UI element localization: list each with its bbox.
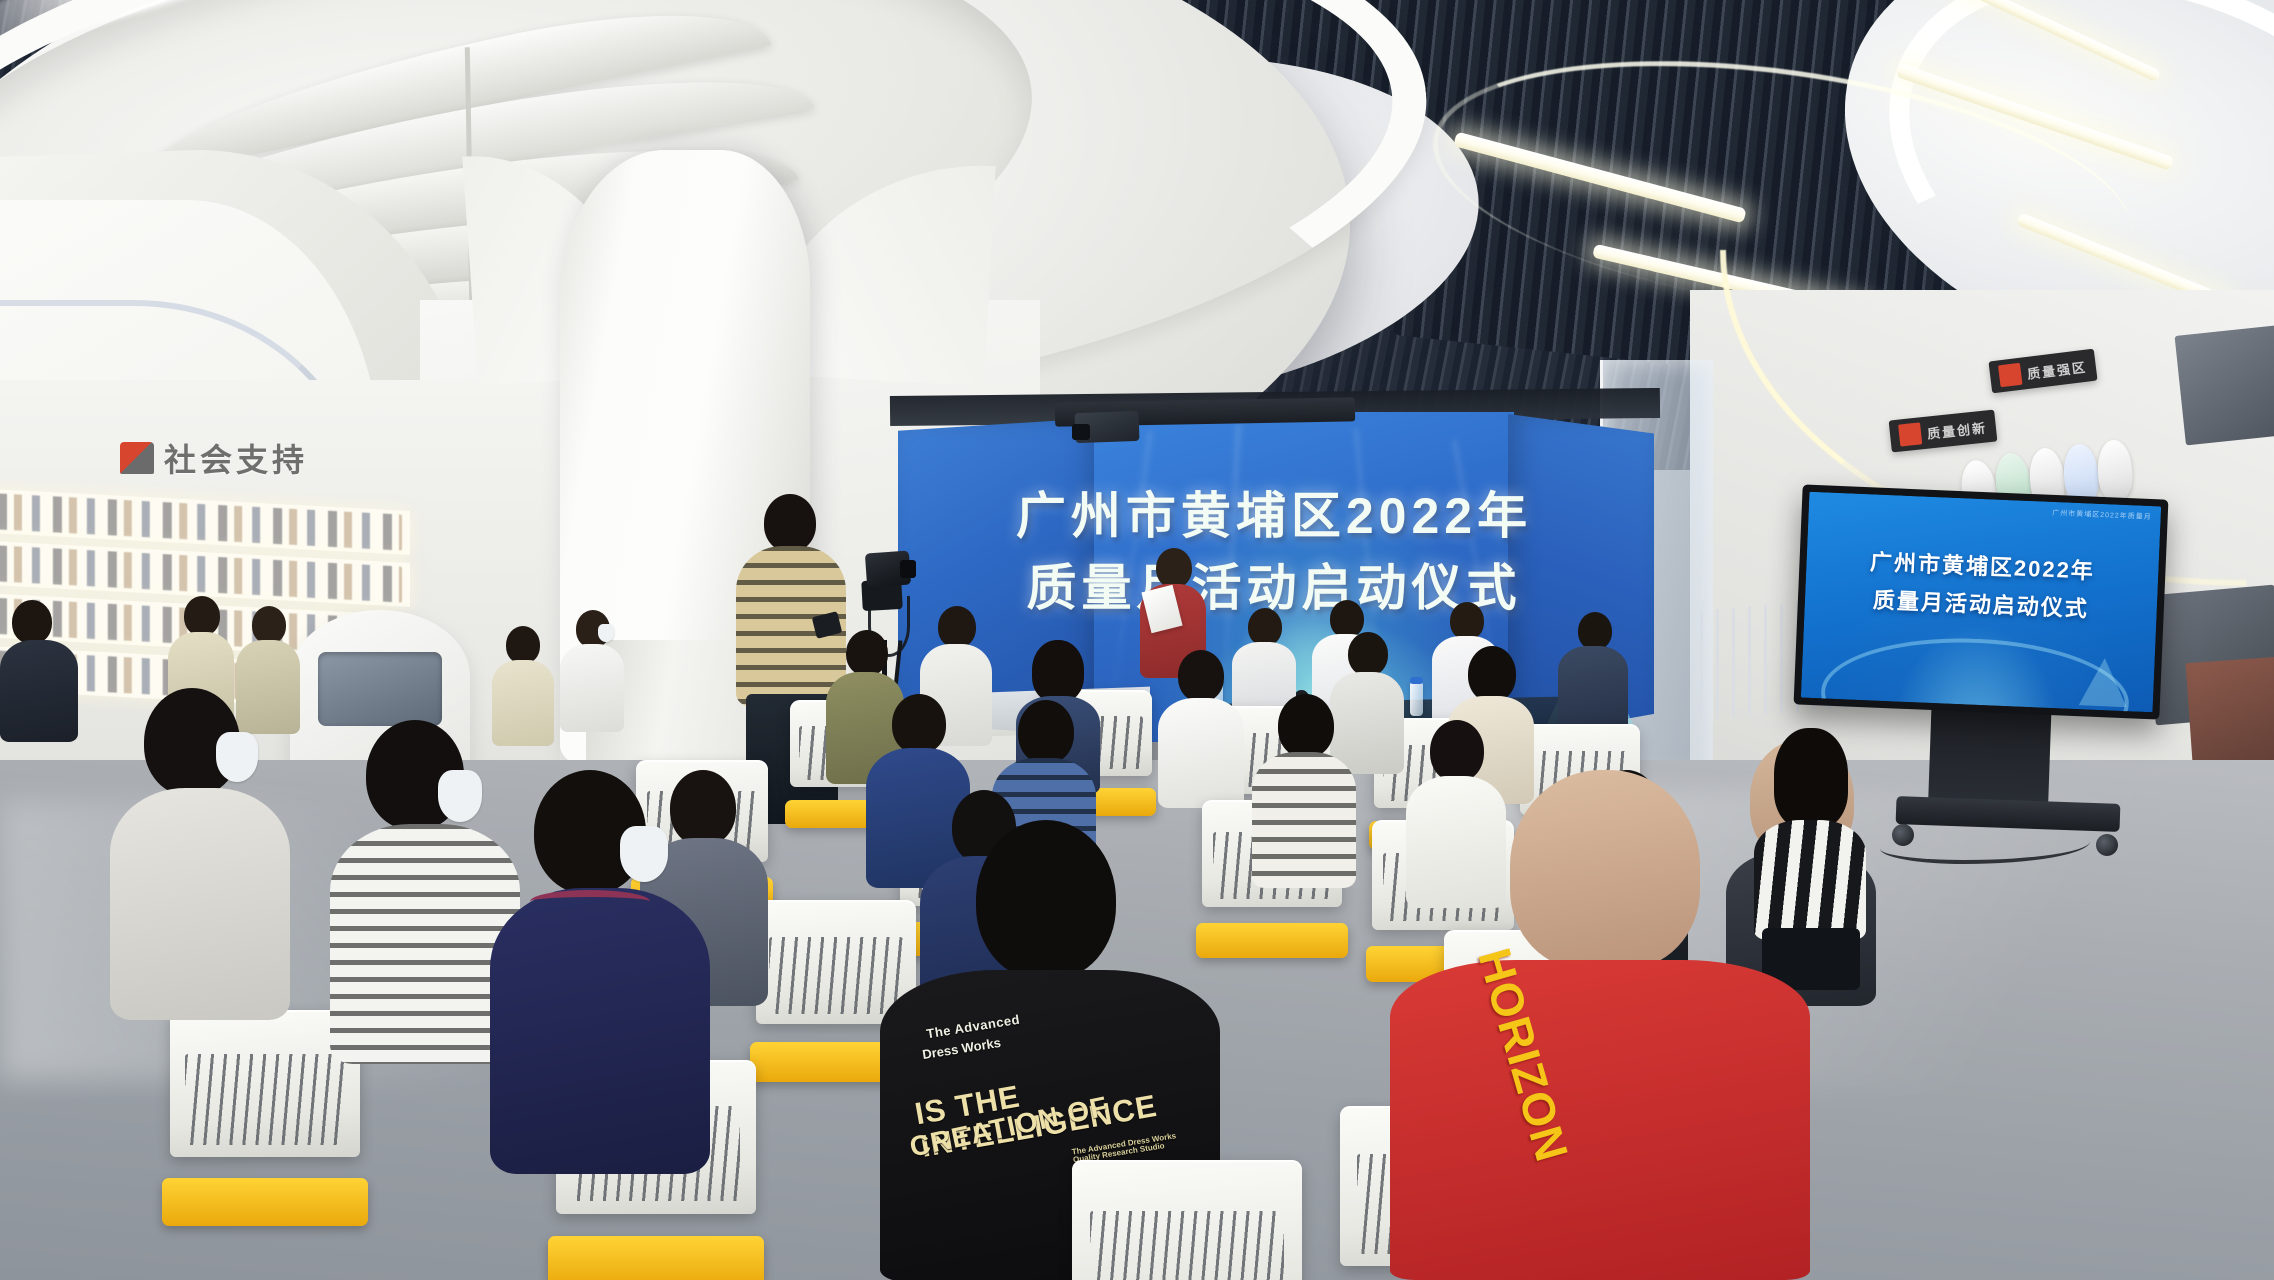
person-official-4 (1558, 612, 1628, 732)
head (12, 600, 52, 644)
head (1348, 632, 1388, 676)
person-audience (0, 600, 78, 740)
tv-screen: 广州市黄埔区2022年质量月 广州市黄埔区2022年 质量月活动启动仪式 (1801, 492, 2161, 713)
person-audience-striped-2 (1252, 694, 1356, 884)
right-wall-sign-1-text: 质量强区 (2026, 356, 2088, 382)
event-photo-scene: 社会支持 质量强区 质量创新 (0, 0, 2274, 1280)
chair-seat (162, 1178, 367, 1226)
head (1018, 700, 1074, 764)
head (1278, 694, 1334, 758)
face-mask (598, 624, 614, 642)
tv-logo-a-icon (2079, 657, 2129, 707)
head (1430, 720, 1484, 782)
chair-slots (1090, 1211, 1283, 1280)
head (938, 606, 976, 648)
left-wall-sign-text: 社会支持 (164, 435, 308, 481)
main-screen-title-line-1: 广州市黄埔区2022年 (898, 476, 1650, 548)
water-bottle (1410, 682, 1423, 716)
head (1032, 640, 1084, 702)
face-mask (438, 770, 482, 822)
head-bald (1510, 770, 1700, 970)
chair-slots (185, 1054, 345, 1145)
person-audience (560, 610, 624, 730)
face-mask (216, 732, 258, 782)
head (1578, 612, 1612, 650)
head (1468, 646, 1516, 702)
head (1178, 650, 1224, 702)
chair-seat (548, 1236, 764, 1280)
torso (1558, 646, 1628, 734)
torso-red-tee (1390, 960, 1810, 1280)
projector-lens-icon (1072, 424, 1090, 440)
head (976, 820, 1116, 980)
bottle-cap (1410, 677, 1423, 684)
head (764, 494, 816, 552)
torso (0, 640, 78, 742)
person-audience-white-top (1158, 650, 1244, 806)
chair-back (1072, 1160, 1302, 1280)
person-foreground-navy-tee (490, 770, 710, 1170)
head (1156, 548, 1192, 588)
head (1774, 728, 1848, 828)
social-support-logo-icon (120, 442, 154, 474)
head (184, 596, 220, 636)
right-wall-sign-2-text: 质量创新 (1926, 417, 1988, 442)
wall-display-panel (2175, 325, 2274, 446)
chair[interactable] (1072, 1160, 1302, 1280)
camera-lens-icon (900, 560, 916, 578)
sign-accent-icon (1998, 363, 2023, 388)
side-tv-monitor[interactable]: 广州市黄埔区2022年质量月 广州市黄埔区2022年 质量月活动启动仪式 (1794, 484, 2169, 719)
person-foreground-masked-white (110, 688, 290, 1018)
torso (110, 788, 290, 1020)
torso (490, 888, 710, 1174)
head (1248, 608, 1282, 646)
torso (1158, 698, 1244, 808)
head (892, 694, 946, 754)
face-mask (620, 826, 668, 882)
collar-trim (530, 890, 650, 913)
head (506, 626, 540, 664)
person-foreground-red-horizon-tee: HORIZON (1390, 880, 1810, 1280)
left-wall-sign: 社会支持 (120, 432, 400, 484)
torso (1252, 752, 1356, 888)
tv-caster-wheel (2096, 834, 2118, 856)
tv-corner-tag: 广州市黄埔区2022年质量月 (2052, 508, 2152, 522)
sign-accent-icon (1898, 422, 1922, 446)
head (252, 606, 286, 644)
head (846, 630, 888, 676)
person-audience-white-vest (1406, 720, 1506, 906)
head (1450, 602, 1484, 640)
torso (560, 644, 624, 732)
tv-title-line-2: 质量月活动启动仪式 (1804, 580, 2157, 627)
kiosk-screen[interactable] (318, 652, 442, 726)
